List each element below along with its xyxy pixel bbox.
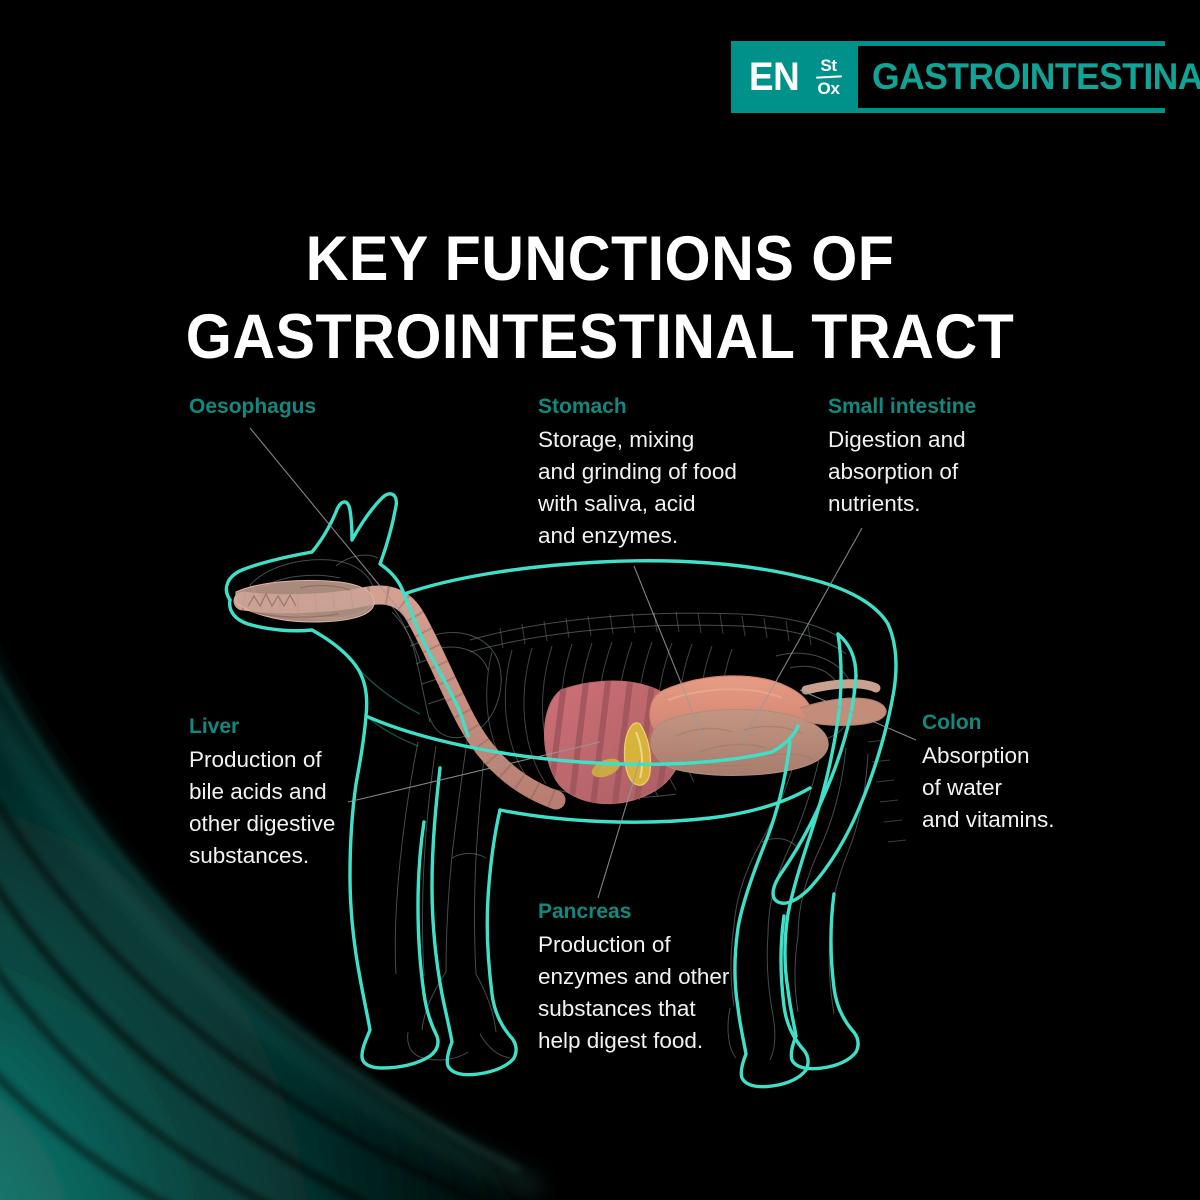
leader-line-stomach xyxy=(634,566,704,740)
callout-body-line: nutrients. xyxy=(828,488,976,520)
callout-body-line: and vitamins. xyxy=(922,804,1055,836)
callout-body-line: help digest food. xyxy=(538,1025,729,1057)
callout-heading-pancreas: Pancreas xyxy=(538,899,729,925)
leader-line-liver xyxy=(348,742,600,802)
callout-body-stomach: Storage, mixing and grinding of food wit… xyxy=(538,424,737,552)
callout-liver: Liver Production of bile acids and other… xyxy=(189,714,335,872)
brand-logo: EN St Ox GASTROINTESTINAL ™ xyxy=(731,41,1165,113)
leader-line-oesophagus xyxy=(250,428,412,625)
callout-colon: Colon Absorption of water and vitamins. xyxy=(922,710,1055,836)
callout-oesophagus: Oesophagus xyxy=(189,394,316,424)
fraction-numerator: St xyxy=(820,57,836,74)
fraction-denominator: Ox xyxy=(818,80,840,97)
st-ox-fraction: St Ox xyxy=(816,57,842,97)
callout-body-line: with saliva, acid xyxy=(538,488,737,520)
callout-body-line: Production of xyxy=(189,744,335,776)
page-title: KEY FUNCTIONS OF GASTROINTESTINAL TRACT xyxy=(0,220,1200,376)
page-title-line-2: GASTROINTESTINAL TRACT xyxy=(36,298,1164,376)
callout-body-line: bile acids and xyxy=(189,776,335,808)
callout-body-small-intestine: Digestion and absorption of nutrients. xyxy=(828,424,976,520)
callout-body-pancreas: Production of enzymes and other substanc… xyxy=(538,929,729,1057)
leader-line-small-intestine xyxy=(742,528,862,742)
callout-body-colon: Absorption of water and vitamins. xyxy=(922,740,1055,836)
callout-body-line: absorption of xyxy=(828,456,976,488)
callout-body-line: substances. xyxy=(189,840,335,872)
callout-pancreas: Pancreas Production of enzymes and other… xyxy=(538,899,729,1057)
callout-heading-oesophagus: Oesophagus xyxy=(189,394,316,420)
infographic-canvas: EN St Ox GASTROINTESTINAL ™ KEY FUNCTION… xyxy=(0,0,1200,1200)
callout-heading-small-intestine: Small intestine xyxy=(828,394,976,420)
callout-body-line: Storage, mixing xyxy=(538,424,737,456)
callout-body-line: substances that xyxy=(538,993,729,1025)
callout-body-line: and enzymes. xyxy=(538,520,737,552)
callout-body-line: other digestive xyxy=(189,808,335,840)
product-name-plate: GASTROINTESTINAL ™ xyxy=(858,46,1200,108)
callout-heading-stomach: Stomach xyxy=(538,394,737,420)
callout-body-line: Production of xyxy=(538,929,729,961)
callout-small-intestine: Small intestine Digestion and absorption… xyxy=(828,394,976,520)
callout-body-line: of water xyxy=(922,772,1055,804)
callout-body-line: Digestion and xyxy=(828,424,976,456)
page-title-line-1: KEY FUNCTIONS OF xyxy=(36,220,1164,298)
brand-en-text: EN xyxy=(749,57,799,97)
leader-line-pancreas xyxy=(598,760,640,898)
callout-body-liver: Production of bile acids and other diges… xyxy=(189,744,335,872)
callout-body-line: enzymes and other xyxy=(538,961,729,993)
callout-stomach: Stomach Storage, mixing and grinding of … xyxy=(538,394,737,552)
product-name-text: GASTROINTESTINAL xyxy=(872,56,1200,98)
leader-line-colon xyxy=(800,690,916,740)
callout-body-line: and grinding of food xyxy=(538,456,737,488)
callout-heading-liver: Liver xyxy=(189,714,335,740)
callout-body-line: Absorption xyxy=(922,740,1055,772)
callout-heading-colon: Colon xyxy=(922,710,1055,736)
